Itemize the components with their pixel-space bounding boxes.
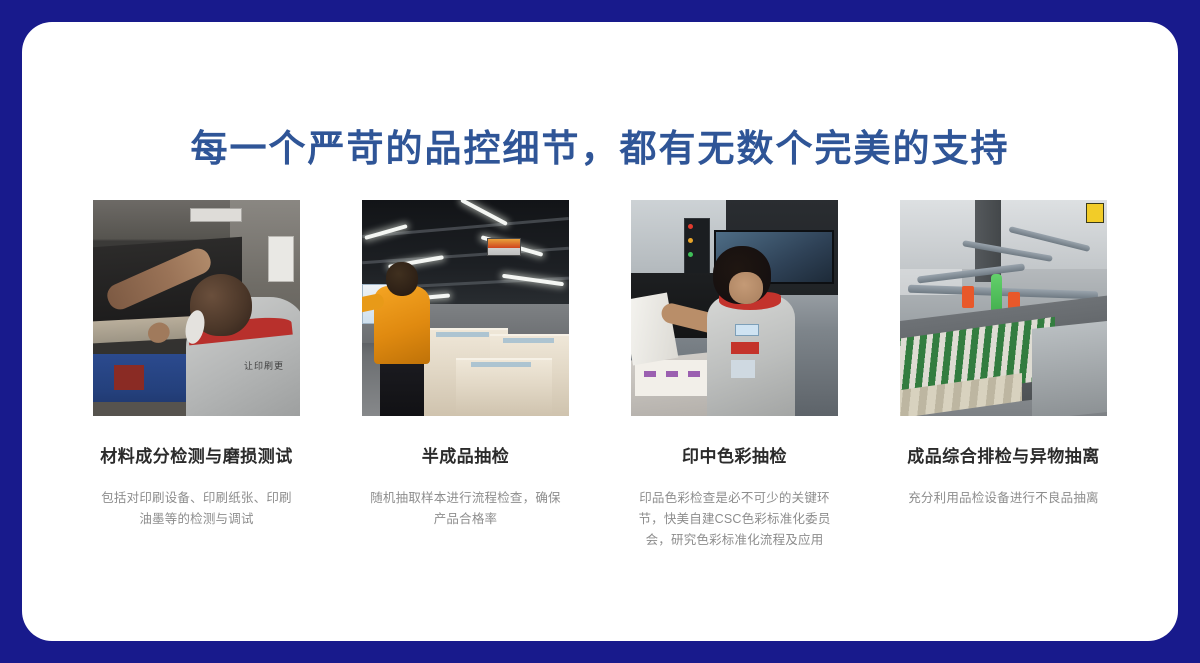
photo-worker-badge bbox=[735, 324, 759, 336]
page-frame: 每一个严苛的品控细节，都有无数个完美的支持 bbox=[0, 0, 1200, 663]
qc-card-description: 包括对印刷设备、印刷纸张、印刷油墨等的检测与调试 bbox=[97, 488, 297, 530]
photo-stack-strap bbox=[436, 332, 489, 337]
photo-worker-logo bbox=[731, 342, 759, 354]
photo-wall-document bbox=[268, 236, 294, 282]
qc-card-photo-material-inspection: 让印刷更 bbox=[93, 200, 300, 416]
qc-card-photo-semifinished-sampling bbox=[362, 200, 569, 416]
qc-card-finished-inspection[interactable]: 成品综合排检与异物抽离 充分利用品检设备进行不良品抽离 bbox=[900, 200, 1107, 509]
qc-card-color-sampling[interactable]: 印中色彩抽检 印品色彩检查是必不可少的关键环节，快美自建CSC色彩标准化委员会，… bbox=[631, 200, 838, 551]
photo-worker-body bbox=[707, 296, 795, 416]
qc-card-title: 半成品抽检 bbox=[422, 442, 510, 467]
qc-card-description: 印品色彩检查是必不可少的关键环节，快美自建CSC色彩标准化委员会，研究色彩标准化… bbox=[635, 488, 835, 551]
qc-card-photo-color-sampling bbox=[631, 200, 838, 416]
photo-worker-head bbox=[386, 262, 418, 296]
photo-machine-frame bbox=[900, 200, 1107, 269]
warning-icon bbox=[1086, 203, 1104, 223]
quality-control-card-list: 让印刷更 材料成分检测与磨损测试 包括对印刷设备、印刷纸张、印刷油墨等的检测与调… bbox=[93, 200, 1107, 551]
photo-shirt-text: 让印刷更 bbox=[244, 359, 284, 372]
qc-card-material-inspection[interactable]: 让印刷更 材料成分检测与磨损测试 包括对印刷设备、印刷纸张、印刷油墨等的检测与调… bbox=[93, 200, 300, 530]
qc-card-photo-finished-inspection bbox=[900, 200, 1107, 416]
photo-worker-face bbox=[729, 272, 763, 304]
qc-card-title: 材料成分检测与磨损测试 bbox=[100, 442, 293, 467]
qc-card-description: 随机抽取样本进行流程检查，确保产品合格率 bbox=[366, 488, 566, 530]
content-card: 每一个严苛的品控细节，都有无数个完美的支持 bbox=[22, 22, 1178, 641]
qc-card-title: 成品综合排检与异物抽离 bbox=[907, 442, 1100, 467]
photo-paper-stack bbox=[456, 358, 552, 416]
photo-worker-pocket bbox=[731, 360, 755, 378]
qc-card-description: 充分利用品检设备进行不良品抽离 bbox=[904, 488, 1104, 509]
photo-machine-rail bbox=[908, 285, 1099, 300]
photo-hanging-sign bbox=[487, 238, 521, 256]
photo-stack-strap bbox=[471, 362, 531, 367]
photo-worker-legs bbox=[380, 360, 424, 416]
qc-card-title: 印中色彩抽检 bbox=[682, 442, 787, 467]
photo-stack-strap bbox=[503, 338, 554, 343]
qc-card-semifinished-sampling[interactable]: 半成品抽检 随机抽取样本进行流程检查，确保产品合格率 bbox=[362, 200, 569, 530]
page-title: 每一个严苛的品控细节，都有无数个完美的支持 bbox=[22, 118, 1178, 172]
photo-machine-label bbox=[190, 208, 242, 222]
photo-clip bbox=[962, 286, 974, 308]
photo-machine-side-panel bbox=[1032, 321, 1107, 416]
